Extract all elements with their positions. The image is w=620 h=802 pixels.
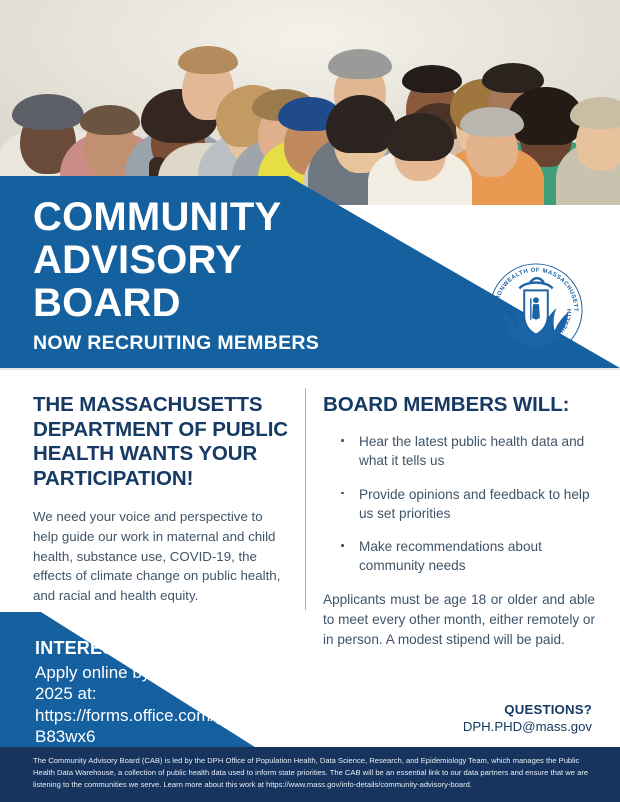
photo-person — [556, 87, 620, 205]
photo-person — [368, 109, 472, 205]
bullet-dot-icon — [341, 439, 344, 442]
title-line-2: ADVISORY — [33, 239, 281, 282]
footer-bar: The Community Advisory Board (CAB) is le… — [0, 747, 620, 802]
list-item-label: Provide opinions and feedback to help us… — [359, 487, 590, 521]
page-subtitle: NOW RECRUITING MEMBERS — [33, 332, 319, 355]
massachusetts-dph-seal-icon: COMMONWEALTH OF MASSACHUSETTS DEPARTMENT… — [487, 261, 585, 359]
column-divider — [305, 388, 306, 610]
flyer-page: COMMUNITY ADVISORY BOARD NOW RECRUITING … — [0, 0, 620, 802]
right-heading: BOARD MEMBERS WILL: — [323, 393, 595, 417]
hero-photo — [0, 0, 620, 205]
interested-title: INTERESTED? — [35, 638, 275, 659]
left-content-column: THE MASSACHUSETTS DEPARTMENT OF PUBLIC H… — [33, 393, 291, 606]
footer-text: The Community Advisory Board (CAB) is le… — [33, 755, 594, 791]
title-line-1: COMMUNITY — [33, 196, 281, 239]
applicant-requirements-text: Applicants must be age 18 or older and a… — [323, 590, 595, 650]
questions-title: QUESTIONS? — [463, 702, 592, 717]
title-line-3: BOARD — [33, 282, 281, 325]
apply-link-text[interactable]: Apply online by November 14, 2025 at: ht… — [35, 662, 275, 748]
list-item: Make recommendations about community nee… — [341, 537, 595, 576]
header-divider — [0, 368, 620, 370]
bullet-dot-icon — [341, 492, 344, 495]
contact-email-link[interactable]: DPH.PHD@mass.gov — [463, 719, 592, 734]
right-content-column: BOARD MEMBERS WILL: Hear the latest publ… — [323, 393, 595, 650]
list-item-label: Make recommendations about community nee… — [359, 539, 542, 573]
bullet-dot-icon — [341, 544, 344, 547]
page-title: COMMUNITY ADVISORY BOARD — [33, 196, 281, 326]
interested-block: INTERESTED? Apply online by November 14,… — [35, 638, 275, 748]
list-item: Provide opinions and feedback to help us… — [341, 485, 595, 524]
list-item-label: Hear the latest public health data and w… — [359, 434, 584, 468]
left-body-text: We need your voice and perspective to he… — [33, 507, 291, 605]
list-item: Hear the latest public health data and w… — [341, 432, 595, 471]
questions-block: QUESTIONS? DPH.PHD@mass.gov — [463, 702, 592, 734]
board-member-duties-list: Hear the latest public health data and w… — [323, 432, 595, 576]
left-heading: THE MASSACHUSETTS DEPARTMENT OF PUBLIC H… — [33, 393, 291, 491]
